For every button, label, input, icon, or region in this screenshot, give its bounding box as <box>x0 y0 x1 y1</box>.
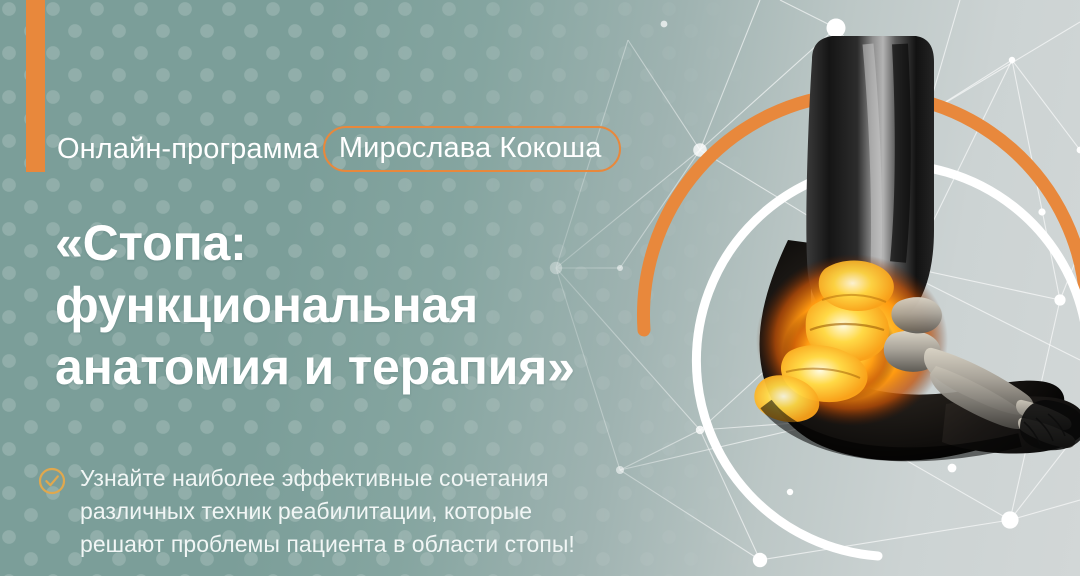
benefit-line-3: решают проблемы пациента в области стопы… <box>80 528 575 561</box>
kicker-author-pill: Мирослава Кокоша <box>323 126 621 172</box>
promo-banner: Онлайн-программа Мирослава Кокоша «Стопа… <box>0 0 1080 576</box>
benefit-line-2: различных техник реабилитации, которые <box>80 495 575 528</box>
accent-bar <box>26 0 45 172</box>
kicker-plain-text: Онлайн-программа <box>57 127 323 171</box>
benefit-line-1: Узнайте наиболее эффективные сочетания <box>80 462 575 495</box>
kicker-line: Онлайн-программа Мирослава Кокоша <box>57 126 621 172</box>
benefit-bullet: Узнайте наиболее эффективные сочетания р… <box>38 462 575 561</box>
headline-line-3: анатомия и терапия» <box>55 336 575 398</box>
benefit-text: Узнайте наиболее эффективные сочетания р… <box>80 462 575 561</box>
page-title: «Стопа: функциональная анатомия и терапи… <box>55 212 575 398</box>
foot-ankle-anatomy-illustration <box>616 0 1080 576</box>
headline-line-2: функциональная <box>55 274 575 336</box>
check-circle-icon <box>38 467 66 495</box>
headline-line-1: «Стопа: <box>55 212 575 274</box>
